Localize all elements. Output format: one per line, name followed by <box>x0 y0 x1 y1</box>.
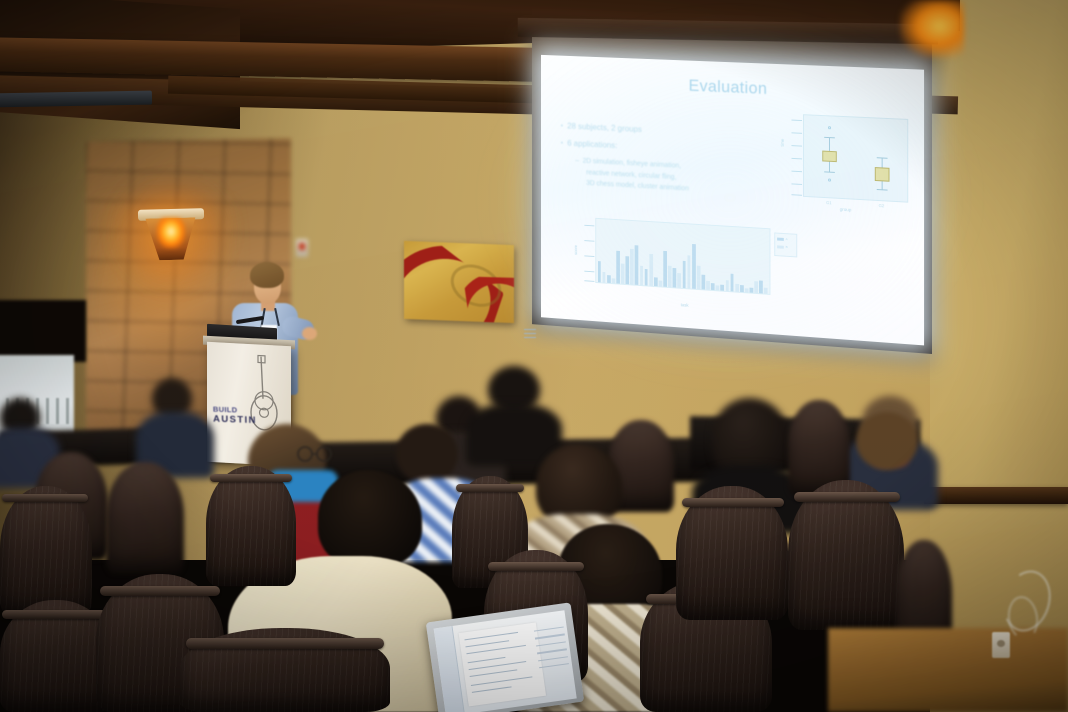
bar-A-t2 <box>607 275 610 283</box>
slide-bullet-1: 28 subjects, 2 groups <box>561 120 736 138</box>
boxplot-x-label: group <box>784 204 908 216</box>
bar-B-t3 <box>621 263 624 284</box>
bar-B-t18 <box>764 288 768 294</box>
boxplot-y-label: time <box>780 139 785 147</box>
chair-back-4 <box>106 462 184 574</box>
projection-screen: Evaluation 28 subjects, 2 groups 6 appli… <box>532 28 932 354</box>
bar-B-t17 <box>755 281 759 293</box>
chair-rail-molding <box>924 487 1068 504</box>
bar-A-t12 <box>701 275 704 289</box>
exit-sign-light <box>299 243 305 250</box>
boxplot-outlier-high <box>828 126 830 129</box>
bar-A-t5 <box>635 245 638 285</box>
slide-bullet-list: 28 subjects, 2 groups 6 applications: 2D… <box>561 120 736 196</box>
barchart-y-label: score <box>573 245 578 255</box>
bar-A-t3 <box>616 251 619 284</box>
bar-B-t15 <box>735 284 738 292</box>
bar-B-t16 <box>745 288 749 292</box>
boxplot-xtick-1: G1 <box>826 200 831 205</box>
chair-rail-2 <box>2 610 106 619</box>
bar-B-t13 <box>716 285 719 290</box>
bar-A-t7 <box>654 277 657 286</box>
eyeglasses-icon <box>296 444 334 464</box>
bar-A-t18 <box>759 280 763 293</box>
window-header-shadow <box>0 300 86 362</box>
chair-rail-5 <box>186 638 384 649</box>
audience-head-mid-4 <box>856 412 918 470</box>
bar-B-t8 <box>668 265 671 287</box>
barchart-legend: A B <box>774 232 797 257</box>
bar-A-t8 <box>663 251 666 287</box>
bar-A-t1 <box>598 261 601 283</box>
bar-A-t4 <box>626 256 629 284</box>
wall-artwork <box>404 241 514 323</box>
bar-B-t10 <box>687 256 690 289</box>
bar-A-t10 <box>682 261 685 288</box>
boxplot-panel <box>803 114 908 202</box>
laptop-screen-right-panel <box>534 626 570 674</box>
presentation-slide: Evaluation 28 subjects, 2 groups 6 appli… <box>541 55 924 346</box>
slide-title: Evaluation <box>541 70 924 106</box>
right-wall-upper <box>930 0 1068 520</box>
bar-B-t11 <box>697 266 700 289</box>
bar-B-t1 <box>602 272 605 282</box>
bar-A-t13 <box>711 283 714 290</box>
bar-A-t15 <box>730 273 733 291</box>
legend-label-b: B <box>786 245 788 249</box>
audience-head-mid-2 <box>396 424 458 484</box>
chair-rail-9 <box>682 498 784 507</box>
laptop-screen[interactable] <box>434 610 577 712</box>
bar-B-t7 <box>659 281 662 287</box>
laptop-screen-document <box>459 622 547 706</box>
bar-B-t4 <box>630 249 633 285</box>
boxplot-outlier-low <box>828 178 830 181</box>
slide-bar-chart: score task A B <box>575 217 797 336</box>
bar-A-t14 <box>721 285 724 291</box>
chair-rail-3 <box>100 586 220 596</box>
speaker-hair <box>250 262 284 288</box>
bar-A-t17 <box>750 288 754 293</box>
corner-accent-light <box>900 0 964 58</box>
bar-A-t16 <box>740 285 744 292</box>
chair-rail-4 <box>210 474 292 482</box>
barchart-x-label: task <box>575 295 797 316</box>
audience-head-front-cream <box>318 470 422 568</box>
legend-label-a: A <box>786 237 788 241</box>
slide-bullet-2: 6 applications: <box>561 138 736 156</box>
chair-right-2 <box>788 480 904 630</box>
bar-B-t12 <box>706 281 709 290</box>
bar-B-t6 <box>649 254 652 286</box>
chair-mid-left <box>206 466 296 586</box>
chair-rail-6 <box>456 484 524 492</box>
slide-boxplot-chart: time group G1 G2 <box>784 113 908 220</box>
chair-rail-10 <box>794 492 900 502</box>
boxplot-xtick-2: G2 <box>879 203 884 208</box>
photo-scene: Evaluation 28 subjects, 2 groups 6 appli… <box>0 0 1068 712</box>
speaker-hand <box>302 327 317 340</box>
podium-logo-line2: AUSTIN <box>213 414 271 427</box>
bar-A-t9 <box>673 268 676 287</box>
podium-logo: BUILD AUSTIN <box>213 405 271 427</box>
sconce-bulb-glow <box>157 218 185 248</box>
bar-B-t9 <box>678 274 681 288</box>
bar-A-t6 <box>644 269 647 286</box>
boxplot-box-g1 <box>822 151 837 163</box>
chair-front-1 <box>0 486 92 616</box>
floor <box>828 628 1068 712</box>
laptop-base <box>0 91 152 108</box>
bar-B-t5 <box>640 266 643 285</box>
bar-B-t14 <box>726 281 729 292</box>
bar-A-t11 <box>692 244 695 289</box>
wall-outlet-socket <box>997 640 1005 647</box>
audience-laptop[interactable] <box>426 602 584 712</box>
chair-rail-1 <box>2 494 88 502</box>
bar-B-t2 <box>612 278 615 283</box>
artwork-swirl <box>444 257 507 315</box>
chair-rail-7 <box>488 562 584 571</box>
boxplot-box-g2 <box>875 167 890 182</box>
